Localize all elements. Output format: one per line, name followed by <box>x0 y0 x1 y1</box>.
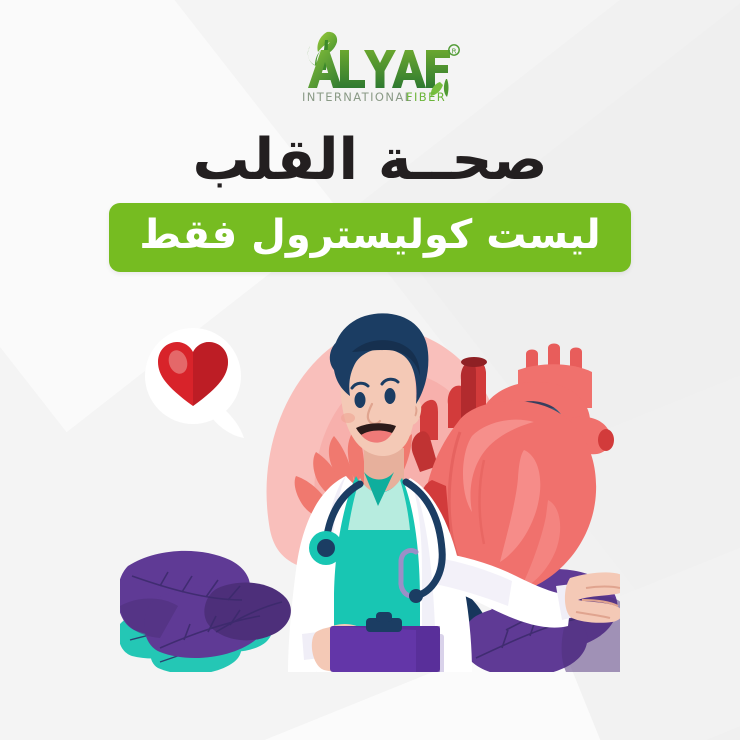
doctor-eye-left <box>355 392 366 408</box>
svg-text:R: R <box>452 47 457 55</box>
doctor-heart-illustration <box>120 300 620 675</box>
stethoscope-connector <box>409 589 423 603</box>
brand-logo: R INTERNATIONAL FIBER <box>0 24 740 106</box>
hero-illustration <box>120 300 620 675</box>
page-title: صحــة القلب <box>0 128 740 194</box>
doctor-eye-right <box>385 388 396 404</box>
alyaf-logo-mark: R INTERNATIONAL FIBER <box>280 24 460 106</box>
logo-tagline-international: INTERNATIONAL <box>302 90 412 104</box>
subtitle-banner: ليست كوليسترول فقط <box>109 203 630 272</box>
registered-trademark-icon: R <box>449 45 459 56</box>
logo-wordmark <box>340 50 450 88</box>
speech-bubble <box>145 328 244 438</box>
stethoscope-chestpiece <box>309 531 343 565</box>
subtitle-banner-wrap: ليست كوليسترول فقط <box>0 203 740 272</box>
poster-canvas: R INTERNATIONAL FIBER صحــة القلب ليست ك… <box>0 0 740 740</box>
logo-tagline-fiber: FIBER <box>406 90 446 104</box>
